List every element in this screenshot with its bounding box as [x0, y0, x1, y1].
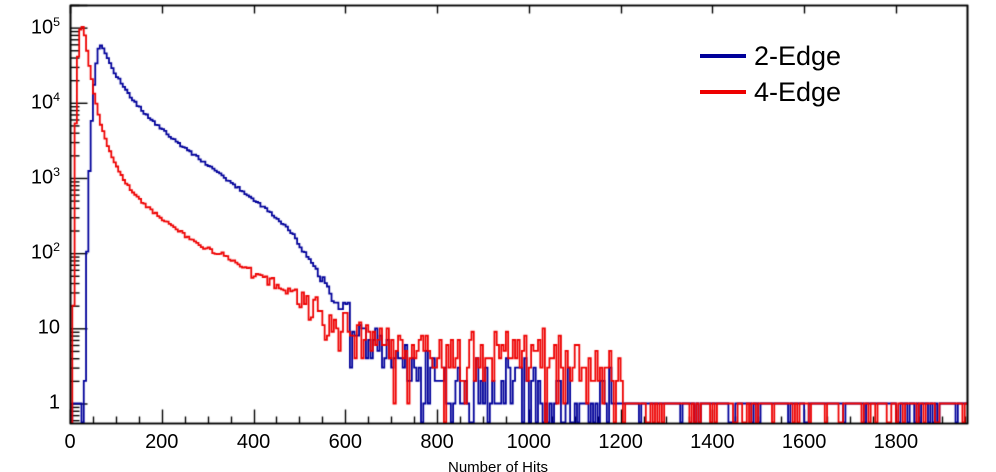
legend-label-4-edge: 4-Edge [754, 79, 841, 106]
legend-swatch-4-edge [700, 90, 746, 94]
legend: 2-Edge 4-Edge [700, 38, 930, 110]
x-axis-title: Number of Hits [0, 459, 996, 472]
legend-swatch-2-edge [700, 54, 746, 58]
legend-item-2-edge: 2-Edge [700, 38, 930, 74]
legend-label-2-edge: 2-Edge [754, 43, 841, 70]
legend-item-4-edge: 4-Edge [700, 74, 930, 110]
chart-root: 110102103104105 020040060080010001200140… [0, 0, 996, 472]
